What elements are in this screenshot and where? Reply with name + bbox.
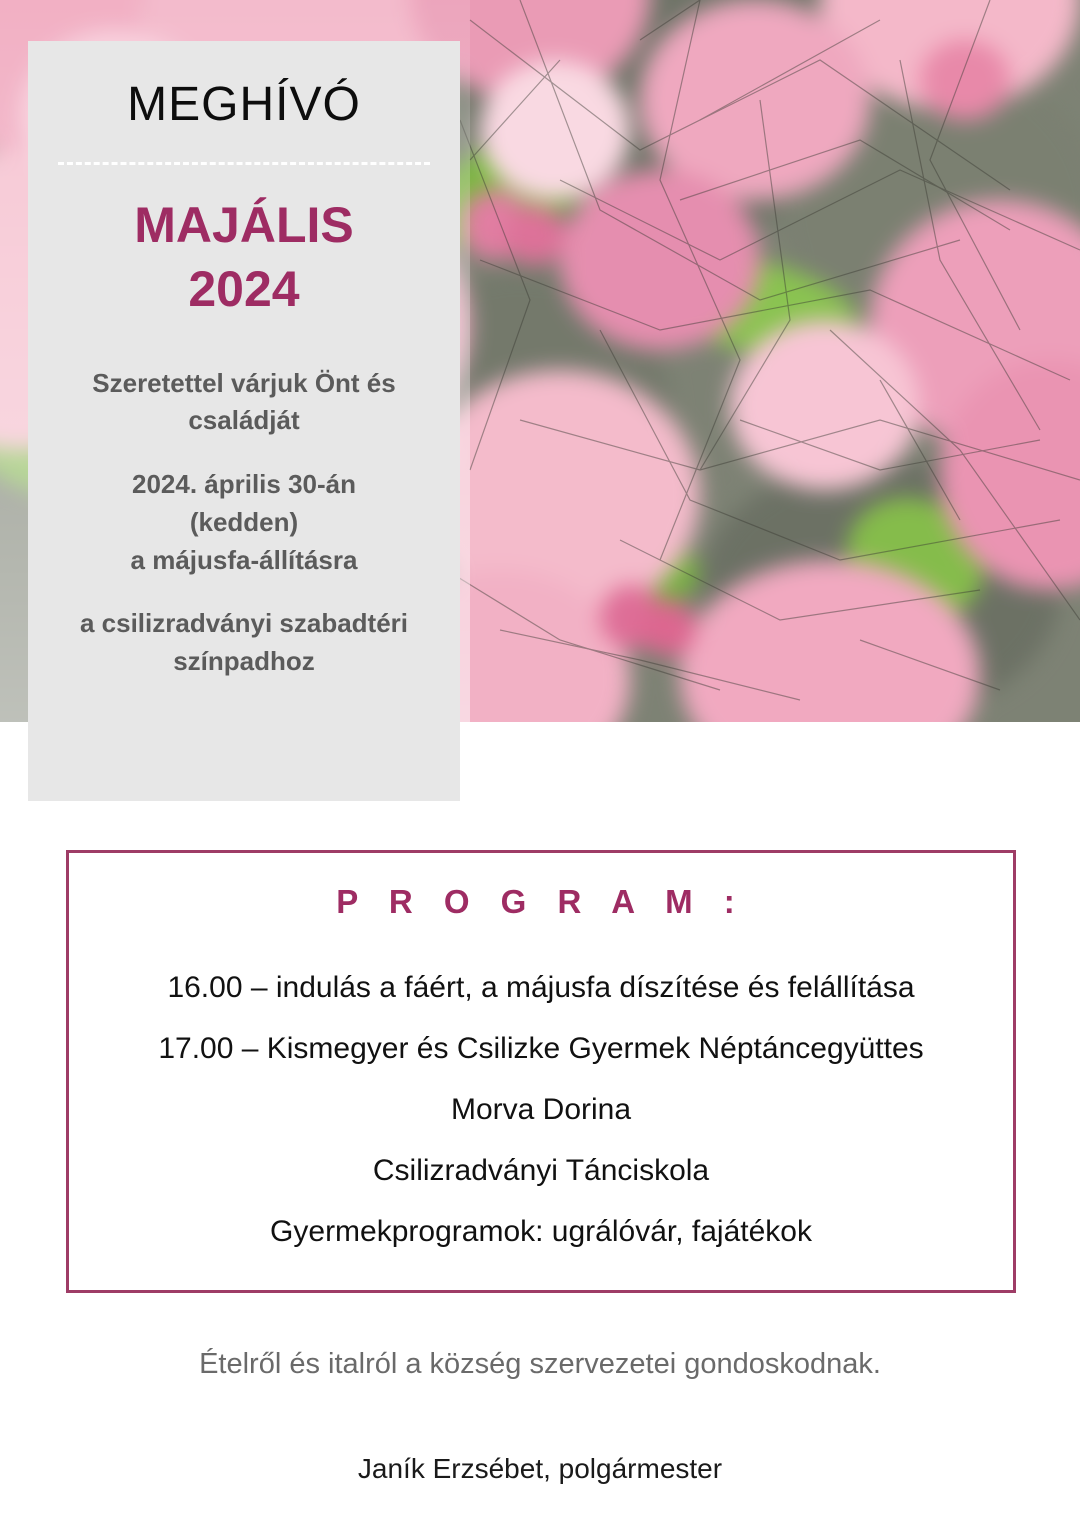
program-item: 16.00 – indulás a fáért, a májusfa díszí… (69, 973, 1013, 1003)
program-item: Csilizradványi Tánciskola (69, 1156, 1013, 1186)
invitation-panel: MEGHÍVÓ MAJÁLIS 2024 Szeretettel várjuk … (28, 41, 460, 801)
program-item: Gyermekprogramok: ugrálóvár, fajátékok (69, 1217, 1013, 1247)
program-item: 17.00 – Kismegyer és Csilizke Gyermek Né… (69, 1034, 1013, 1064)
program-list: 16.00 – indulás a fáért, a májusfa díszí… (69, 973, 1013, 1247)
program-heading: P R O G R A M : (69, 883, 1013, 921)
welcome-line-2: családját (188, 405, 299, 435)
dashed-divider (58, 162, 430, 165)
venue: a csilizradványi szabadtéri színpadhoz (50, 605, 438, 680)
welcome-text: Szeretettel várjuk Önt és családját (50, 365, 438, 440)
venue-line-1: a csilizradványi szabadtéri (80, 608, 408, 638)
signature: Janík Erzsébet, polgármester (0, 1453, 1080, 1485)
occasion-line: a májusfa-állításra (131, 545, 358, 575)
event-title: MAJÁLIS (50, 193, 438, 257)
program-box: P R O G R A M : 16.00 – indulás a fáért,… (66, 850, 1016, 1293)
event-title-block: MAJÁLIS 2024 (50, 193, 438, 321)
poster-footer: Ételről és italról a község szervezetei … (0, 1348, 1080, 1485)
invitation-poster: MEGHÍVÓ MAJÁLIS 2024 Szeretettel várjuk … (0, 0, 1080, 1528)
date-line-2: (kedden) (190, 507, 298, 537)
event-year: 2024 (50, 257, 438, 321)
date-line-1: 2024. április 30-án (132, 469, 356, 499)
program-item: Morva Dorina (69, 1095, 1013, 1125)
page-title: MEGHÍVÓ (50, 79, 438, 132)
venue-line-2: színpadhoz (173, 646, 315, 676)
date-and-occasion: 2024. április 30-án (kedden) a májusfa-á… (50, 466, 438, 579)
welcome-line-1: Szeretettel várjuk Önt és (92, 368, 395, 398)
catering-note: Ételről és italról a község szervezetei … (0, 1348, 1080, 1381)
invitation-body: Szeretettel várjuk Önt és családját 2024… (50, 365, 438, 681)
